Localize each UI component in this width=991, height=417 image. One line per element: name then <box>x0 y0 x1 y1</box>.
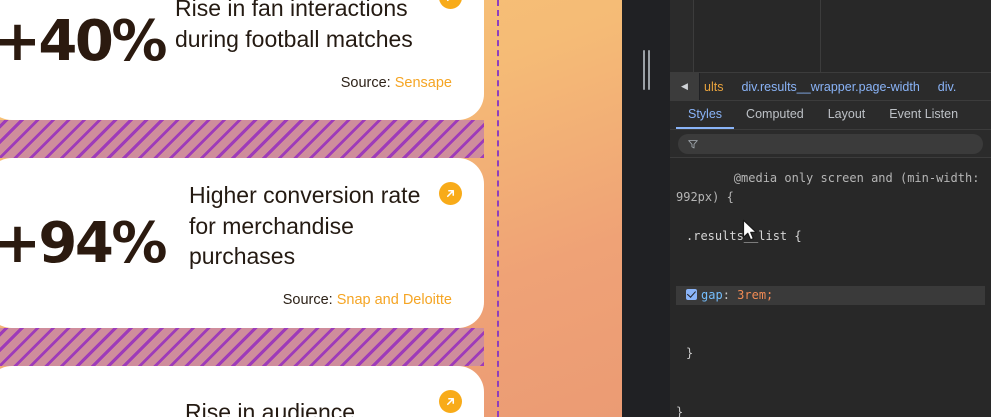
dom-tree[interactable]: ▶<svg class="results height="20" viewBox… <box>670 0 991 73</box>
media-close-brace: } <box>676 403 985 417</box>
styles-filter-bar[interactable] <box>670 130 991 158</box>
vertical-resize-handle-icon[interactable] <box>640 50 652 90</box>
dom-tree-indent <box>694 0 821 72</box>
chevron-left-icon[interactable]: ◀ <box>670 73 700 100</box>
filter-funnel-icon <box>687 138 699 150</box>
devtools-panel: ▶<svg class="results height="20" viewBox… <box>670 0 991 417</box>
styles-pane[interactable]: @media only screen and (min-width: 992px… <box>670 158 991 417</box>
result-body: Rise in fan interactions during football… <box>171 0 458 91</box>
result-title: Rise in audience engagement <box>185 397 435 417</box>
css-property[interactable]: gap <box>701 288 723 302</box>
result-source: Source: Snap and Deloitte <box>189 292 452 308</box>
declaration-checkbox[interactable] <box>686 289 697 300</box>
screenshot-root: +40% Rise in fan interactions during foo… <box>0 0 991 417</box>
rule-close-brace: } <box>676 344 985 364</box>
breadcrumb-item[interactable]: div. <box>929 80 966 94</box>
tab-layout[interactable]: Layout <box>816 101 878 129</box>
browser-viewport: +40% Rise in fan interactions during foo… <box>0 0 622 417</box>
result-stat: +94% <box>0 216 165 272</box>
dom-tree-line <box>825 32 970 50</box>
dom-tree-gutter <box>670 0 694 72</box>
result-title: Rise in fan interactions during football… <box>175 0 425 55</box>
dom-tree-code: ▶<svg class="results height="20" viewBox… <box>825 0 970 73</box>
css-value[interactable]: 3rem; <box>737 288 773 302</box>
devtools-splitter[interactable] <box>622 0 670 417</box>
source-label: Source: <box>283 292 333 308</box>
breadcrumb[interactable]: ◀ ults div.results__wrapper.page-width d… <box>670 73 991 101</box>
result-card[interactable]: +40% Rise in fan interactions during foo… <box>0 0 484 120</box>
media-query-text: @media only screen and (min-width: 992px… <box>676 171 987 205</box>
arrow-up-right-icon[interactable] <box>439 390 462 413</box>
filter-input[interactable] <box>678 134 983 154</box>
result-source: Source: Sensape <box>175 75 452 91</box>
source-name[interactable]: Snap and Deloitte <box>337 292 452 308</box>
flex-gap-overlay <box>0 120 484 158</box>
devtools-tabs[interactable]: Styles Computed Layout Event Listen <box>670 101 991 130</box>
result-body: Rise in audience engagement Source: <box>171 397 458 417</box>
source-name[interactable]: Sensape <box>395 75 452 91</box>
arrow-up-right-icon[interactable] <box>439 182 462 205</box>
result-stat: +40% <box>0 14 165 70</box>
results-list: +40% Rise in fan interactions during foo… <box>0 0 484 417</box>
css-rule-media[interactable]: @media only screen and (min-width: 992px… <box>670 158 991 417</box>
breadcrumb-item[interactable]: ults <box>700 80 732 94</box>
tab-event-listeners[interactable]: Event Listen <box>877 101 970 129</box>
flex-gap-overlay <box>0 328 484 366</box>
css-selector[interactable]: .results__list { <box>676 227 985 247</box>
result-card[interactable]: +94% Higher conversion rate for merchand… <box>0 158 484 328</box>
css-declaration-gap[interactable]: gap: 3rem; <box>676 286 985 306</box>
result-body: Higher conversion rate for merchandise p… <box>171 180 458 308</box>
breadcrumb-item[interactable]: div.results__wrapper.page-width <box>732 80 928 94</box>
tab-computed[interactable]: Computed <box>734 101 816 129</box>
result-title: Higher conversion rate for merchandise p… <box>189 180 449 272</box>
result-card[interactable]: +15% Rise in audience engagement Source: <box>0 366 484 417</box>
element-boundary-guide <box>497 0 499 417</box>
source-label: Source: <box>341 75 391 91</box>
tab-styles[interactable]: Styles <box>676 101 734 129</box>
